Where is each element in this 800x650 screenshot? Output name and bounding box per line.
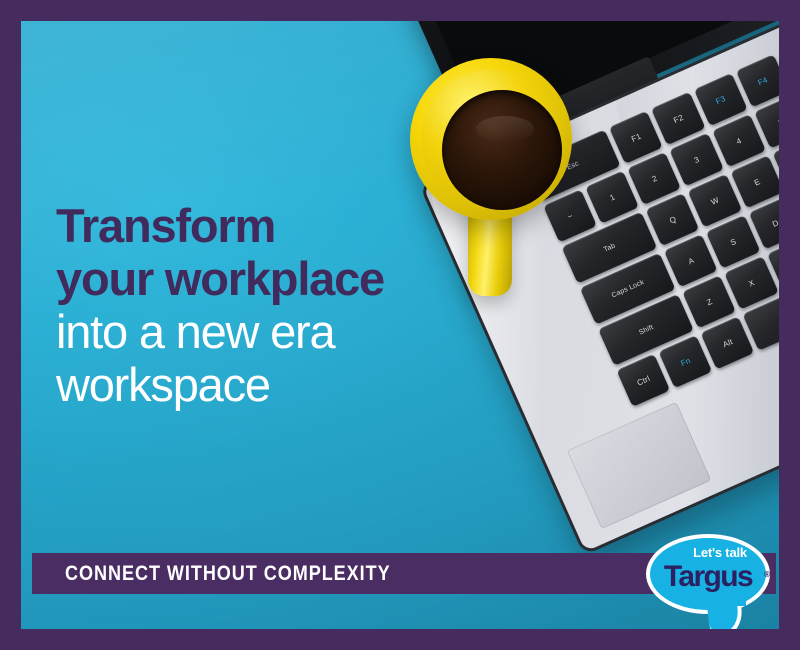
- headline-line-1: Transform: [56, 199, 476, 252]
- mug-body: [410, 58, 572, 220]
- headline: Transform your workplace into a new era …: [56, 199, 476, 411]
- logo-brand-text: Targus: [646, 561, 770, 592]
- tagline-text: CONNECT WITHOUT COMPLEXITY: [65, 562, 391, 586]
- mug-rim: [421, 69, 561, 209]
- logo-lets-talk-text: Let's talk: [646, 546, 770, 560]
- headline-line-4: workspace: [56, 358, 476, 411]
- logo-text: Let's talk Targus: [646, 546, 770, 592]
- headline-line-2: your workplace: [56, 252, 476, 305]
- targus-ad-banner: Esc F1 F2 F3 F4 F5 ~ 1 2 3 4 5 6 Tab Q W: [0, 0, 800, 650]
- registered-trademark-icon: ®: [764, 570, 770, 579]
- coffee-liquid: [442, 90, 562, 210]
- targus-logo[interactable]: Let's talk Targus ®: [646, 534, 776, 629]
- coffee-surface-gloss: [476, 116, 534, 142]
- photo-stage: Esc F1 F2 F3 F4 F5 ~ 1 2 3 4 5 6 Tab Q W: [21, 21, 779, 629]
- headline-line-3: into a new era: [56, 305, 476, 358]
